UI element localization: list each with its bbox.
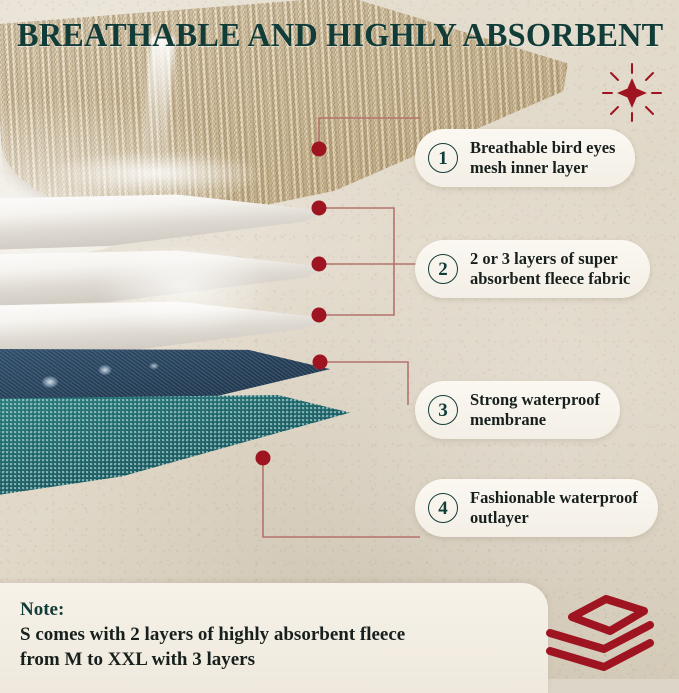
stacked-layers-icon <box>546 591 664 673</box>
note-panel: Note: S comes with 2 layers of highly ab… <box>0 583 548 693</box>
callout-2-label: 2 or 3 layers of super absorbent fleece … <box>470 249 630 289</box>
infographic-canvas: BREATHABLE AND HIGHLY ABSORBENT <box>0 0 679 679</box>
callout-3-label: Strong waterproof membrane <box>470 390 600 430</box>
sparkle-star-icon <box>602 62 662 122</box>
note-body: S comes with 2 layers of highly absorben… <box>20 622 528 672</box>
callout-4[interactable]: 4 Fashionable waterproof outlayer <box>415 479 658 537</box>
callout-2[interactable]: 2 2 or 3 layers of super absorbent fleec… <box>415 240 650 298</box>
callout-3-number: 3 <box>428 395 458 425</box>
callout-1[interactable]: 1 Breathable bird eyes mesh inner layer <box>415 129 635 187</box>
callout-1-label: Breathable bird eyes mesh inner layer <box>470 138 615 178</box>
page-title: BREATHABLE AND HIGHLY ABSORBENT <box>17 16 662 56</box>
callout-4-label: Fashionable waterproof outlayer <box>470 488 638 528</box>
callout-1-number: 1 <box>428 143 458 173</box>
callout-4-number: 4 <box>428 493 458 523</box>
callout-3[interactable]: 3 Strong waterproof membrane <box>415 381 620 439</box>
callout-2-number: 2 <box>428 254 458 284</box>
note-label: Note: <box>20 597 528 622</box>
